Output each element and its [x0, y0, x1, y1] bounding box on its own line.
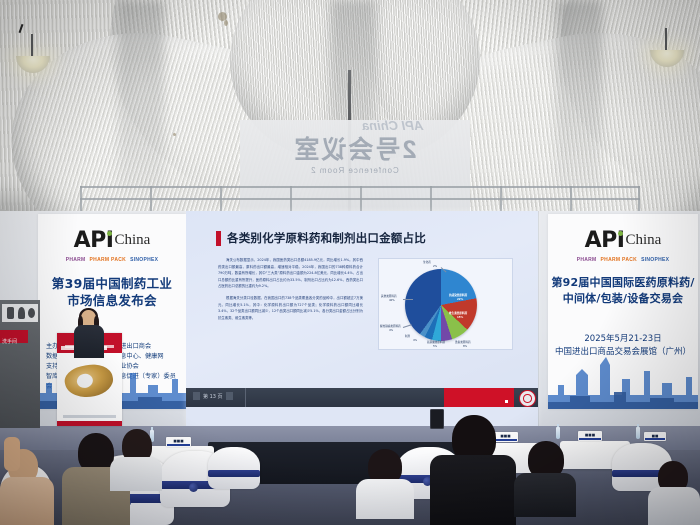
right-banner-title-line1: 第92届中国国际医药原料药/	[548, 275, 698, 291]
pie-slice-value-6: 4%	[413, 339, 417, 342]
red-sign-label: 洗手间	[0, 339, 17, 345]
skyline-graphic	[548, 347, 698, 409]
page-icon	[226, 392, 233, 400]
right-banner-title: 第92届中国国际医药原料药/ 中间体/包装/设备交易会	[548, 275, 698, 307]
slide-footer-bar: 第 13 页	[186, 388, 538, 407]
smartphone	[430, 409, 444, 429]
pie-slice-label-7: 生化药	[423, 261, 431, 264]
audience-person	[648, 461, 700, 525]
api-logo-china-text: China	[626, 232, 662, 248]
audience-person	[514, 441, 576, 517]
sublogo-pharm: PHARM	[66, 257, 86, 263]
water-bottle	[556, 427, 560, 439]
pie-slice-label-6: 制剂	[405, 335, 410, 338]
api-logo-china-text: China	[115, 232, 151, 248]
rollup-product-image	[62, 360, 116, 401]
pie-slice-value-1: 22%	[457, 298, 463, 301]
pie-slice-label-5: 解热镇痛类原料药	[380, 325, 401, 328]
name-card: ■■	[644, 432, 666, 441]
red-direction-sign: 洗手间	[0, 330, 28, 343]
mezzanine-railing	[80, 186, 640, 214]
conference-photo-scene: API China 2号会议室 Conference Room 2 APIChi…	[0, 0, 700, 525]
api-china-logo: APIChina	[548, 228, 698, 253]
presentation-slide: 各类别化学原料药和制剂出口金额占比 海关公布数据显示，2024年，我国医药类出口…	[186, 211, 538, 407]
pie-slice-value-3: 8%	[463, 345, 467, 348]
projection-screen: 各类别化学原料药和制剂出口金额占比 海关公布数据显示，2024年，我国医药类出口…	[186, 211, 538, 426]
audience-person-hand-raised	[4, 437, 24, 471]
co-event-logos: PHARMPHARM PACKSINOPHEX	[548, 257, 698, 263]
pie-slice-value-0: 40%	[389, 299, 395, 302]
title-accent-bar-icon	[216, 231, 221, 246]
audience-chair	[208, 447, 260, 489]
api-logo-leaf-icon	[107, 231, 112, 236]
drape-valley	[556, 0, 602, 190]
slide-paragraph: 根据海关分类口径数据，在我国出口的738个品类覆盖各分类的品种中，出口额超过7万…	[218, 295, 363, 321]
audience-person	[110, 429, 162, 491]
pie-slice-value-4: 5%	[433, 345, 437, 348]
sublogo-sinophex: SINOPHEX	[130, 257, 158, 263]
pie-slice-label-2: 维生素类原料药	[449, 312, 467, 315]
backwall-api-logo-ghost: API China	[362, 118, 423, 133]
slide-body-text: 海关公布数据显示，2024年，我国医药类出口总额4185.9亿元，同比增长1.9…	[218, 257, 363, 326]
sublogo-pharmpack: PHARM PACK	[90, 257, 127, 263]
page-icon	[193, 392, 200, 400]
slide-title-row: 各类别化学原料药和制剂出口金额占比	[216, 230, 426, 246]
footer-seal-logo-icon	[519, 390, 536, 407]
slide-title: 各类别化学原料药和制剂出口金额占比	[227, 230, 426, 246]
pie-slice-label-1: 抗感染类原料药	[449, 294, 467, 297]
drape-valley	[118, 0, 164, 190]
pie-slice-label-0: 其他类原料药	[381, 295, 397, 298]
sublogo-sinophex: SINOPHEX	[641, 257, 669, 263]
conference-room-sign: 2号会议室 Conference Room 2	[252, 138, 457, 175]
speaker-person	[72, 310, 106, 358]
name-card: ■■■	[578, 431, 602, 441]
left-banner-title-line1: 第39届中国制药工业	[38, 275, 186, 292]
pie-slice-value-7: 2%	[433, 265, 437, 268]
ceiling-speck	[173, 133, 176, 136]
pie-chart	[405, 269, 477, 341]
pie-slice-value-5: 4%	[389, 329, 393, 332]
conference-room-sign-en: Conference Room 2	[252, 166, 457, 175]
name-card: ■■■	[166, 437, 191, 447]
slide-paragraph: 海关公布数据显示，2024年，我国医药类出口总额4185.9亿元，同比增长1.9…	[218, 257, 363, 290]
slide-page-indicator: 第 13 页	[193, 392, 233, 400]
right-banner-title-line2: 中间体/包装/设备交易会	[548, 291, 698, 307]
co-event-logos: PHARMPHARM PACKSINOPHEX	[38, 257, 186, 263]
water-bottle	[636, 427, 640, 439]
restroom-sign-icon	[2, 304, 38, 322]
pie-slice-value-2: 15%	[457, 316, 463, 319]
left-banner-title-line2: 市场信息发布会	[38, 292, 186, 309]
left-banner-title: 第39届中国制药工业 市场信息发布会	[38, 275, 186, 309]
audience-person	[430, 415, 516, 525]
ceiling-speck	[224, 20, 228, 26]
footer-red-block	[444, 388, 514, 407]
api-logo-leaf-icon	[618, 231, 623, 236]
right-event-banner: APIChina PHARMPHARM PACKSINOPHEX 第92届中国国…	[548, 214, 698, 409]
event-date: 2025年5月21-23日	[548, 333, 698, 346]
pie-chart-container: 抗感染类原料药 22% 维生素类原料药 15% 其他类原料药 40% 生化药 2…	[378, 258, 513, 350]
sublogo-pharm: PHARM	[577, 257, 597, 263]
api-china-logo: APIChina	[38, 228, 186, 253]
audience-person	[356, 449, 414, 519]
conference-room-sign-zh: 2号会议室	[252, 138, 457, 163]
sublogo-pharmpack: PHARM PACK	[601, 257, 638, 263]
slide-page-number: 第 13 页	[203, 393, 223, 400]
